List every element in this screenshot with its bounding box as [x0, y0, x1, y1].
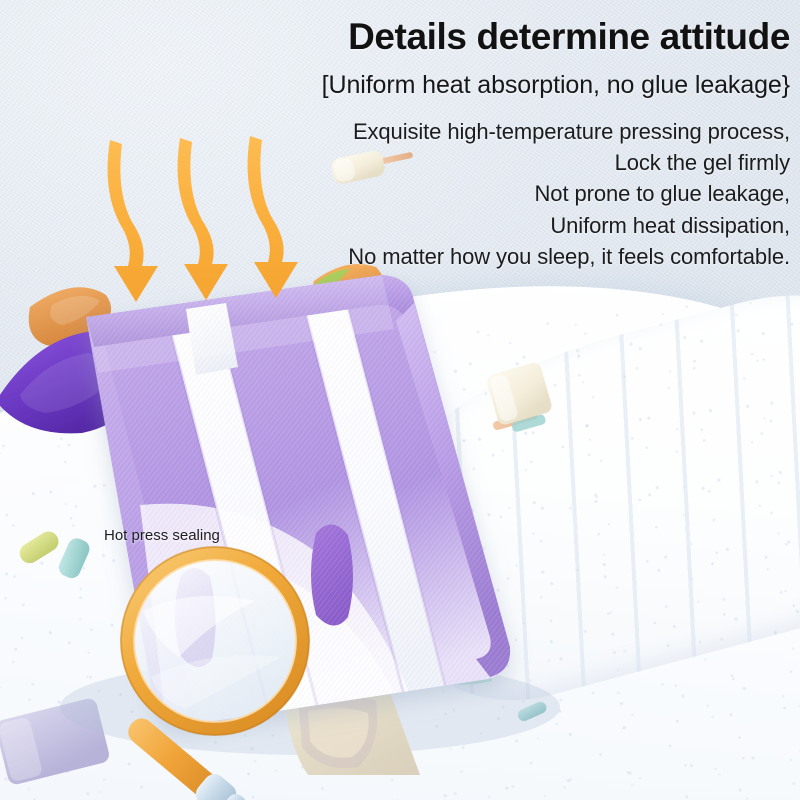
copy-block: Details determine attitude [Uniform heat…	[190, 18, 790, 272]
page-title: Details determine attitude	[190, 18, 790, 57]
feature-list: Exquisite high-temperature pressing proc…	[190, 116, 790, 272]
feature-line: Lock the gel firmly	[190, 147, 790, 178]
subtitle: [Uniform heat absorption, no glue leakag…	[190, 71, 790, 100]
feature-line: Uniform heat dissipation,	[190, 210, 790, 241]
callout-hot-press-sealing: Hot press sealing	[104, 527, 220, 544]
banner-stage: Hot press sealing	[0, 0, 800, 800]
feature-line: Not prone to glue leakage,	[190, 178, 790, 209]
magnifying-glass	[95, 545, 325, 800]
heat-arrow-1	[108, 140, 158, 302]
feature-line: No matter how you sleep, it feels comfor…	[190, 241, 790, 272]
feature-line: Exquisite high-temperature pressing proc…	[190, 116, 790, 147]
